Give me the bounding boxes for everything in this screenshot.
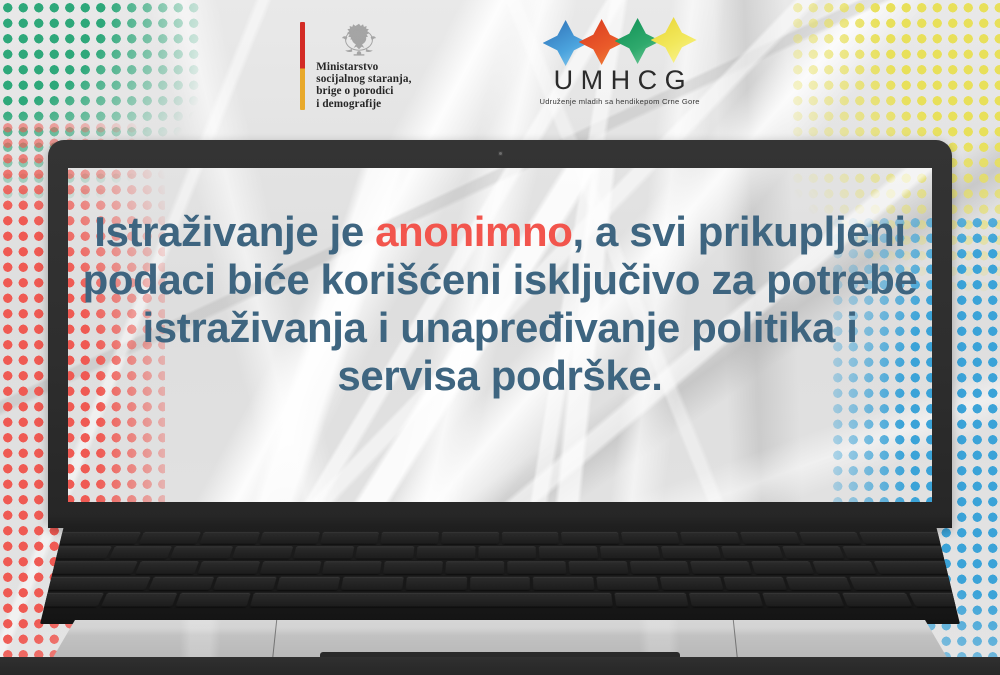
laptop-screen: Istraživanje je anonimno, a svi prikuplj… <box>68 168 932 502</box>
diamond-yellow-icon <box>651 17 697 63</box>
spacebar-key <box>250 593 613 607</box>
ministry-logo-body: Ministarstvo socijalnog staranja, brige … <box>316 22 411 110</box>
keyboard-row <box>29 577 971 590</box>
laptop-deck <box>0 516 1000 675</box>
laptop-keyboard <box>40 526 960 624</box>
ministry-logo: Ministarstvo socijalnog staranja, brige … <box>300 22 411 110</box>
montenegro-coat-of-arms-icon <box>328 22 390 58</box>
ministry-flag-bar <box>300 22 305 110</box>
headline-accent-word: anonimno <box>375 208 572 255</box>
umhcg-subtitle: Udruženje mladih sa hendikepom Crne Gore <box>539 97 699 106</box>
keyboard-keys <box>20 532 981 607</box>
poster-canvas: Ministarstvo socijalnog staranja, brige … <box>0 0 1000 675</box>
umhcg-diamonds-icon <box>543 20 697 66</box>
keyboard-row <box>20 593 981 607</box>
laptop-illustration: Istraživanje je anonimno, a svi prikuplj… <box>0 140 1000 675</box>
webcam-icon <box>498 151 503 156</box>
keyboard-row <box>55 532 944 544</box>
screen-headline: Istraživanje je anonimno, a svi prikuplj… <box>68 208 932 400</box>
ministry-name-text: Ministarstvo socijalnog staranja, brige … <box>316 61 411 110</box>
keyboard-row <box>38 561 962 574</box>
laptop-lid: Istraživanje je anonimno, a svi prikuplj… <box>48 140 952 528</box>
keyboard-row <box>47 546 953 558</box>
umhcg-logo: UMHCG Udruženje mladih sa hendikepom Crn… <box>539 20 699 112</box>
laptop-base-edge <box>0 657 1000 675</box>
umhcg-wordmark: UMHCG <box>546 67 693 94</box>
header-logos: Ministarstvo socijalnog staranja, brige … <box>0 0 1000 132</box>
headline-lead: Istraživanje je <box>94 208 375 255</box>
